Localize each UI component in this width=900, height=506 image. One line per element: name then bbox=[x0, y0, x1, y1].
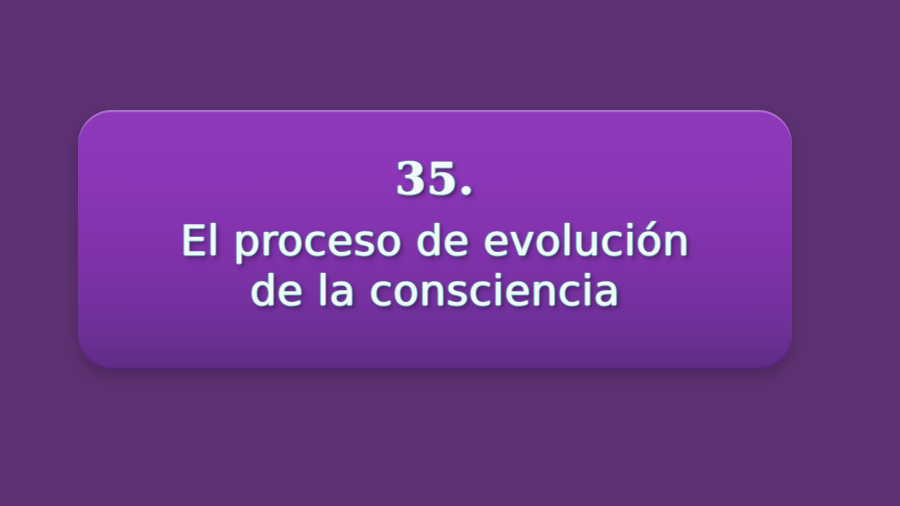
title-card: 35. El proceso de evolución de la consci… bbox=[78, 110, 792, 370]
title-line-2: de la consciencia bbox=[250, 266, 620, 316]
slide-number: 35. bbox=[395, 158, 475, 202]
title-line-1: El proceso de evolución bbox=[180, 216, 689, 266]
slide-canvas: 35. El proceso de evolución de la consci… bbox=[0, 0, 900, 506]
